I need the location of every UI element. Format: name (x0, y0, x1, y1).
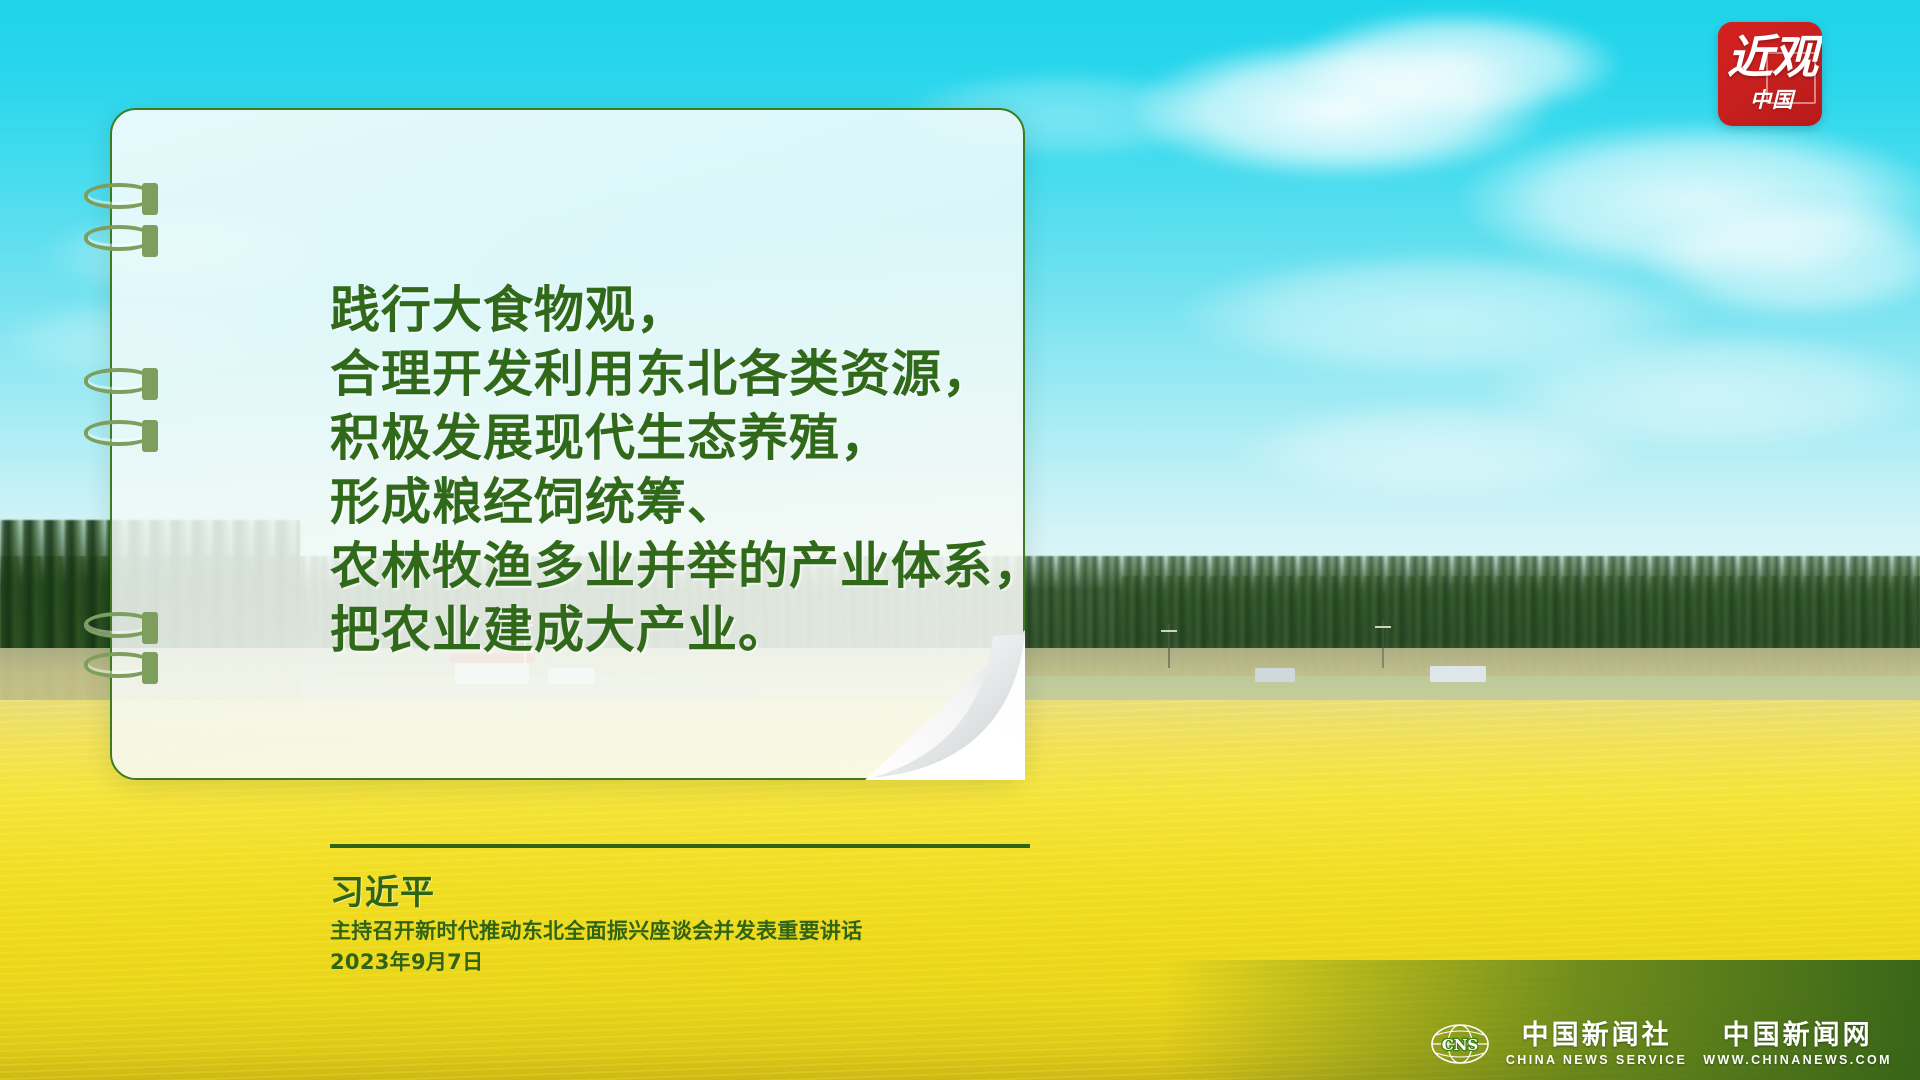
farm-building (1255, 668, 1295, 682)
speaker-name: 习近平 (330, 870, 1070, 916)
spiral-ring (84, 420, 154, 446)
agency-name-en: CHINA NEWS SERVICE (1506, 1054, 1687, 1067)
utility-pole (1382, 620, 1384, 668)
attribution-block: 习近平 主持召开新时代推动东北全面振兴座谈会并发表重要讲话 2023年9月7日 (330, 870, 1070, 978)
agency-watermark: 中国新闻社 CHINA NEWS SERVICE (1506, 1022, 1687, 1067)
attribution-occasion: 主持召开新时代推动东北全面振兴座谈会并发表重要讲话 (330, 916, 1070, 947)
quote-line: 积极发展现代生态养殖， (330, 406, 1090, 470)
attribution-date: 2023年9月7日 (330, 947, 1070, 978)
cns-globe-icon: CNS (1430, 1023, 1490, 1065)
utility-pole (1168, 624, 1170, 668)
spiral-ring (84, 368, 154, 394)
logo-title-top: 近观 (1726, 28, 1818, 86)
spiral-ring (84, 225, 154, 251)
quote-line: 践行大食物观， (330, 278, 1090, 342)
quote-divider (330, 844, 1030, 848)
site-watermark: 中国新闻网 WWW.CHINANEWS.COM (1703, 1022, 1892, 1067)
quote-line: 合理开发利用东北各类资源， (330, 342, 1090, 406)
quote-text-block: 践行大食物观， 合理开发利用东北各类资源， 积极发展现代生态养殖， 形成粮经饲统… (330, 278, 1090, 662)
spiral-ring (84, 612, 154, 638)
farm-building (1430, 666, 1486, 682)
quote-line: 形成粮经饲统筹、 (330, 470, 1090, 534)
brand-logo: 近观 中国 (1718, 22, 1822, 126)
spiral-ring (84, 652, 154, 678)
logo-title-bottom: 中国 (1726, 84, 1818, 118)
quote-line: 把农业建成大产业。 (330, 598, 1090, 662)
spiral-ring (84, 183, 154, 209)
footer-watermark: CNS 中国新闻社 CHINA NEWS SERVICE 中国新闻网 WWW.C… (1430, 1022, 1892, 1067)
site-url: WWW.CHINANEWS.COM (1703, 1054, 1892, 1067)
svg-text:CNS: CNS (1442, 1036, 1478, 1054)
quote-card: 践行大食物观， 合理开发利用东北各类资源， 积极发展现代生态养殖， 形成粮经饲统… (110, 108, 1025, 780)
quote-line: 农林牧渔多业并举的产业体系， (330, 534, 1090, 598)
site-name-cn: 中国新闻网 (1723, 1022, 1873, 1049)
agency-name-cn: 中国新闻社 (1522, 1022, 1672, 1049)
